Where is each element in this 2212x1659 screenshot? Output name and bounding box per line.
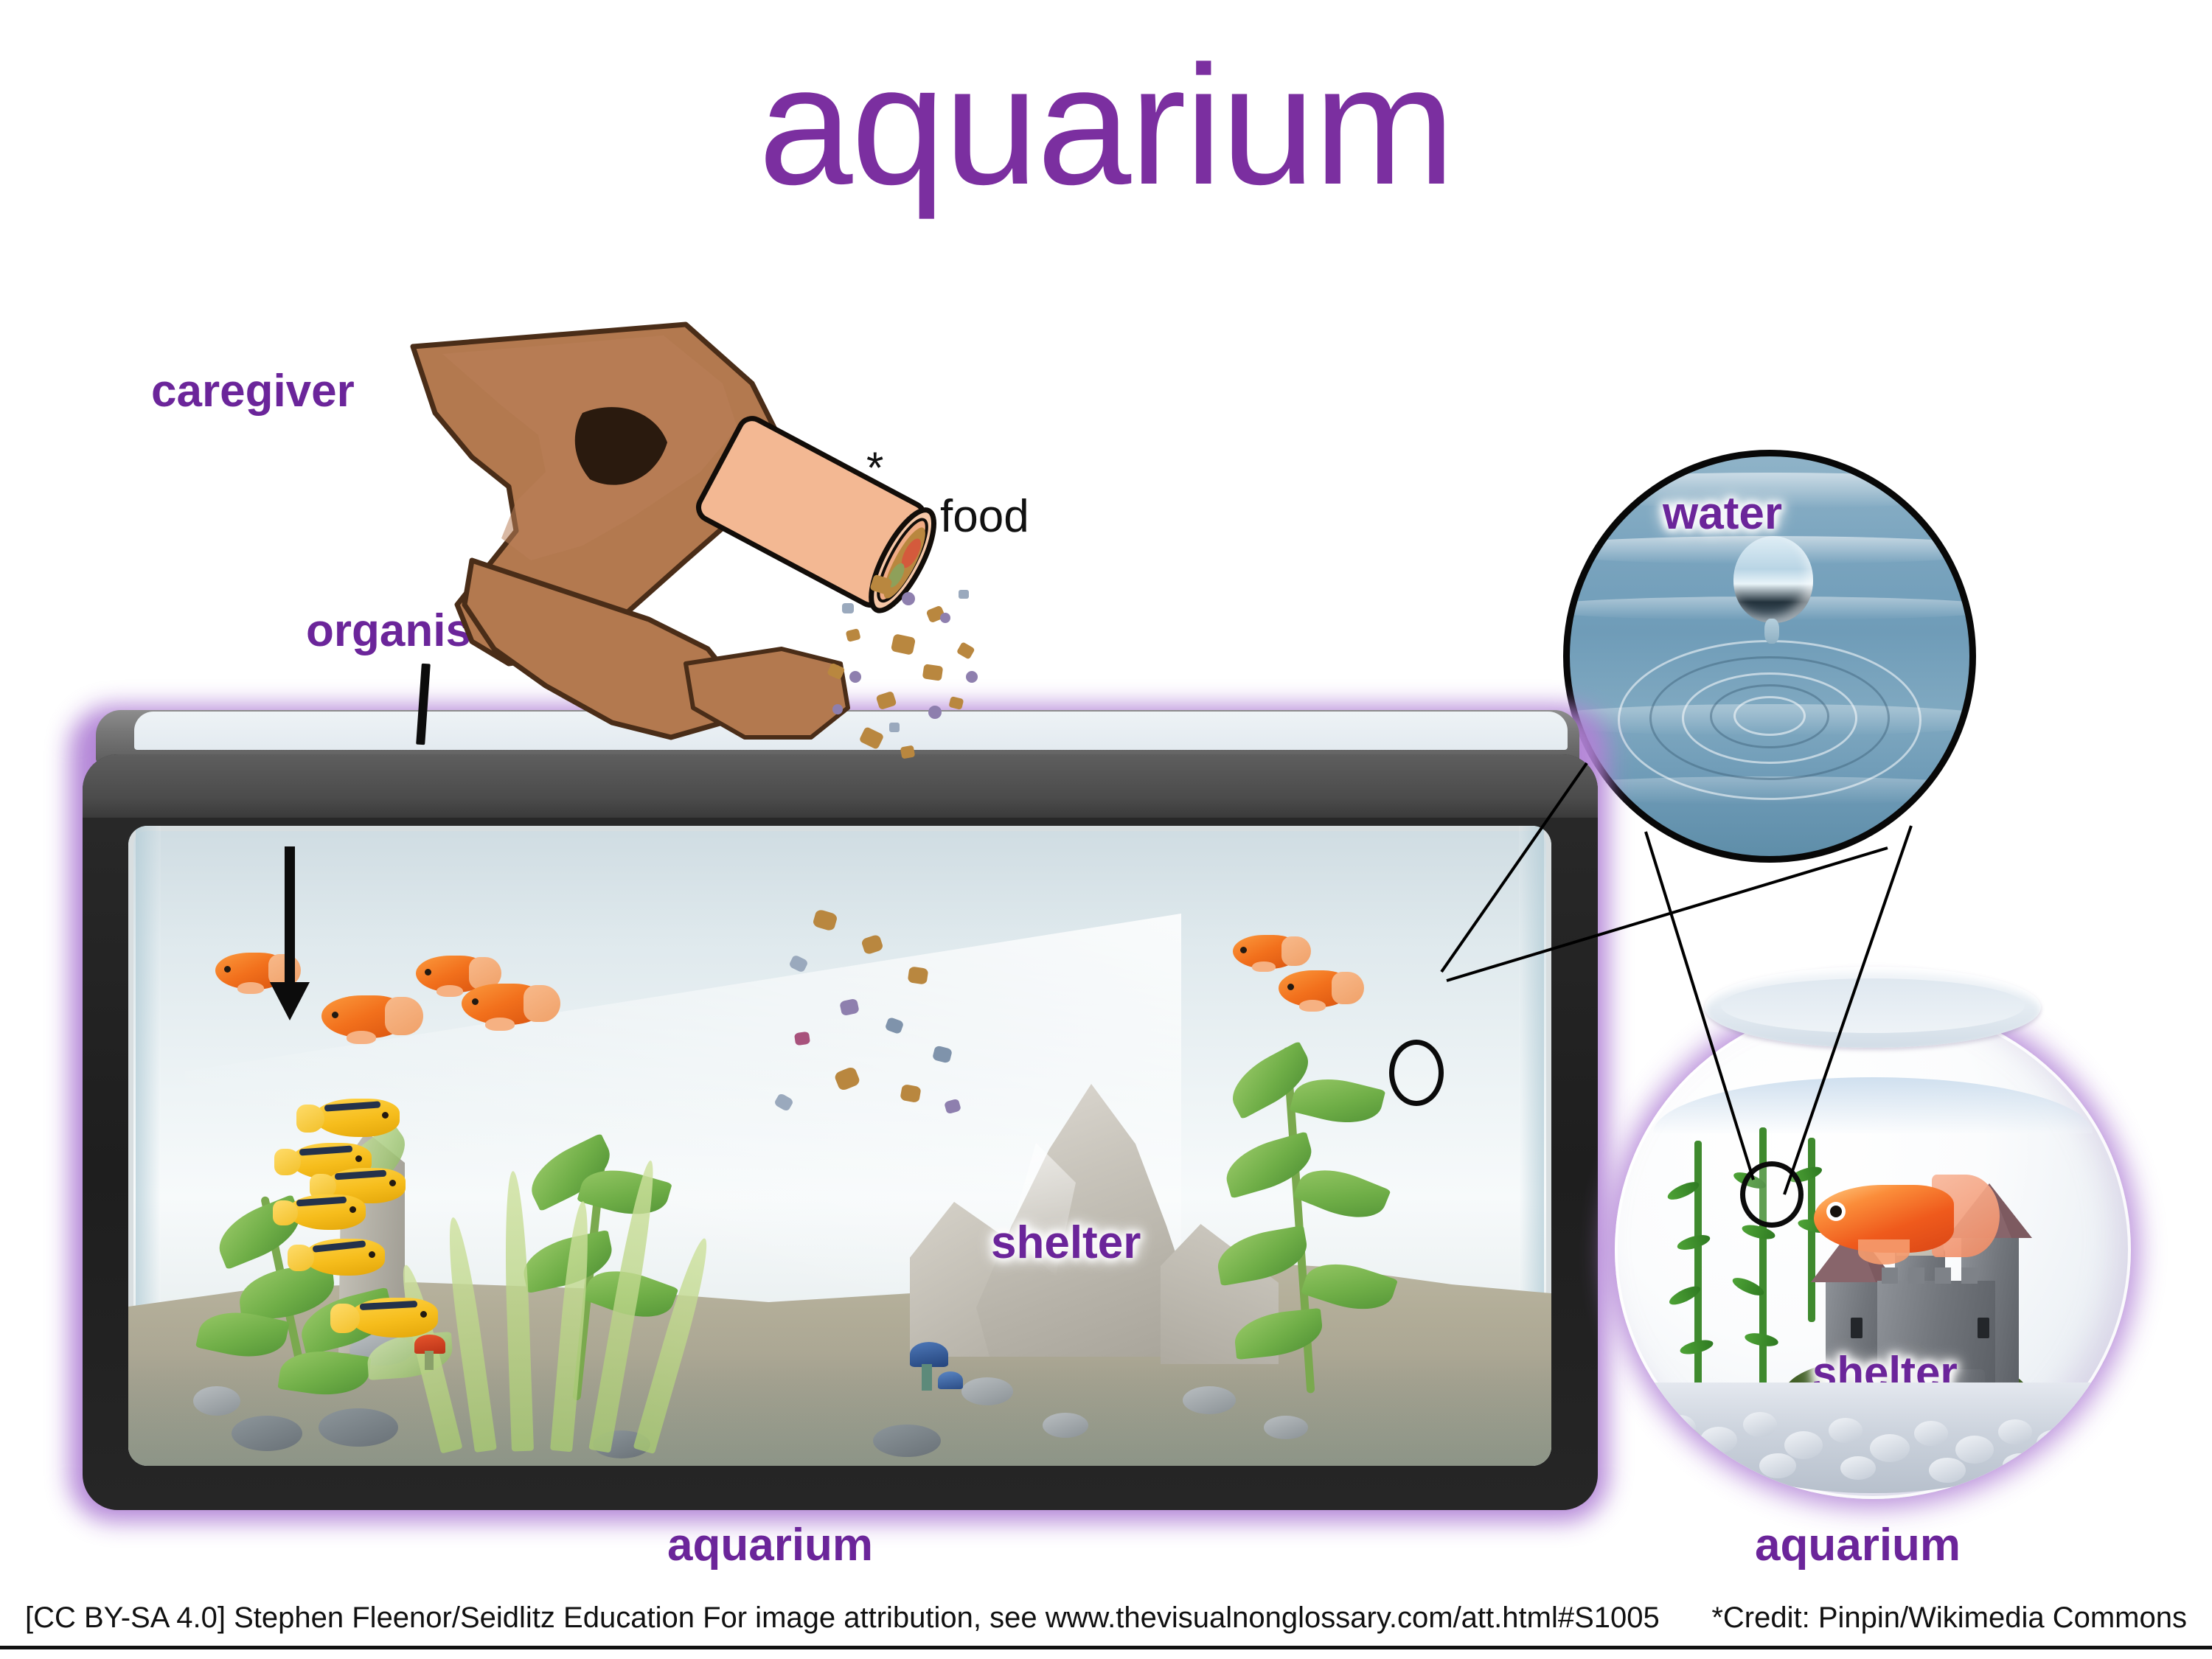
footer-divider	[0, 1646, 2212, 1649]
fish-goldfish	[462, 984, 544, 1025]
fishbowl-waterline	[1653, 1077, 2093, 1133]
goldfish-eye	[1830, 1206, 1842, 1217]
fish-yellow-cichlid	[288, 1194, 366, 1230]
fish-yellow-cichlid	[304, 1239, 385, 1276]
pebble	[1264, 1416, 1308, 1439]
fish-yellow-cichlid	[349, 1298, 438, 1338]
gravel-stone	[1684, 1450, 1719, 1475]
gravel-stone	[1929, 1458, 1966, 1483]
label-aquarium-bowl: aquarium	[1755, 1519, 1961, 1571]
fish-yellow-cichlid	[314, 1099, 400, 1137]
gravel-stone	[1998, 1419, 2032, 1444]
fishbowl-aquarium: shelter	[1593, 962, 2153, 1523]
pebble	[1043, 1413, 1088, 1438]
organism-arrow-head	[270, 982, 310, 1020]
castle-merlon	[1935, 1267, 1951, 1284]
castle-window	[1851, 1318, 1863, 1338]
food-flake	[908, 966, 929, 984]
label-aquarium-tank: aquarium	[667, 1519, 873, 1571]
pebble	[873, 1425, 941, 1457]
pebble	[961, 1377, 1013, 1405]
label-water: water	[1663, 487, 1782, 540]
pebble	[193, 1386, 240, 1416]
gravel-stone	[1914, 1421, 1948, 1446]
gravel-stone	[1743, 1412, 1777, 1437]
label-organism: organism	[306, 605, 512, 657]
footer-credit: *Credit: Pinpin/Wikimedia Commons	[1711, 1601, 2187, 1635]
poster-canvas: aquarium	[0, 0, 2212, 1659]
gravel-stone	[2037, 1430, 2073, 1456]
pebble	[1183, 1386, 1236, 1414]
goldfish-fin	[1858, 1239, 1910, 1265]
gravel-stone	[1829, 1418, 1863, 1443]
pebble	[232, 1416, 302, 1451]
page-title: aquarium	[0, 41, 2212, 210]
asterisk-footnote-marker: *	[866, 442, 883, 493]
gravel-stone	[1759, 1453, 1796, 1478]
gravel-stone	[1870, 1434, 1910, 1462]
aquarium-glass-interior: shelter	[128, 826, 1551, 1466]
gravel-stone	[1700, 1427, 1737, 1453]
gravel-stone	[1784, 1431, 1823, 1459]
water-closeup-inset: water	[1563, 450, 1976, 863]
blue-mushroom-small	[938, 1371, 963, 1389]
aquarium-lid-inner	[134, 712, 1568, 750]
plant-leaf	[1290, 1069, 1385, 1132]
label-caregiver: caregiver	[151, 365, 355, 417]
water-sample-marker-tank	[1389, 1040, 1444, 1106]
water-sample-marker-bowl	[1740, 1161, 1804, 1228]
label-food: food	[940, 490, 1029, 543]
food-flake	[788, 954, 809, 973]
pebble	[319, 1408, 398, 1447]
blue-mushroom-stem	[922, 1364, 932, 1391]
gravel-stone	[1840, 1456, 1876, 1480]
food-flake	[794, 1032, 810, 1046]
aquarium-frame-top-bar	[83, 754, 1598, 818]
food-flake	[860, 934, 884, 956]
gravel-stone	[1663, 1415, 1696, 1440]
gravel-stone	[1955, 1436, 1994, 1464]
castle-merlon	[1908, 1267, 1924, 1284]
rectangular-aquarium: shelter	[83, 719, 1598, 1512]
castle-merlon	[1882, 1267, 1898, 1284]
fishbowl-gravel	[1649, 1382, 2097, 1493]
gravel-stone	[2003, 1453, 2038, 1477]
food-flake	[900, 1084, 921, 1103]
food-flake	[812, 908, 838, 931]
plant-leaf	[1293, 1158, 1391, 1231]
water-droplet-tail	[1764, 619, 1779, 644]
castle-window	[1978, 1318, 1989, 1338]
fish-goldfish	[1233, 935, 1298, 969]
castle-merlon	[1961, 1267, 1978, 1284]
fishbowl-rim-inner	[1721, 978, 2025, 1033]
fishbowl-frond	[1676, 1232, 1712, 1253]
fishbowl-glass: shelter	[1615, 1001, 2131, 1499]
footer-attribution: [CC BY-SA 4.0] Stephen Fleenor/Seidlitz …	[25, 1601, 1660, 1635]
label-shelter-tank: shelter	[991, 1217, 1141, 1269]
fish-goldfish	[321, 995, 406, 1038]
fishbowl-goldfish	[1814, 1175, 1998, 1259]
organism-arrow-shaft	[285, 846, 295, 985]
red-mushroom-stem	[425, 1351, 434, 1370]
water-droplet	[1733, 536, 1813, 623]
blue-mushroom	[910, 1342, 948, 1367]
fish-goldfish	[1279, 970, 1349, 1007]
